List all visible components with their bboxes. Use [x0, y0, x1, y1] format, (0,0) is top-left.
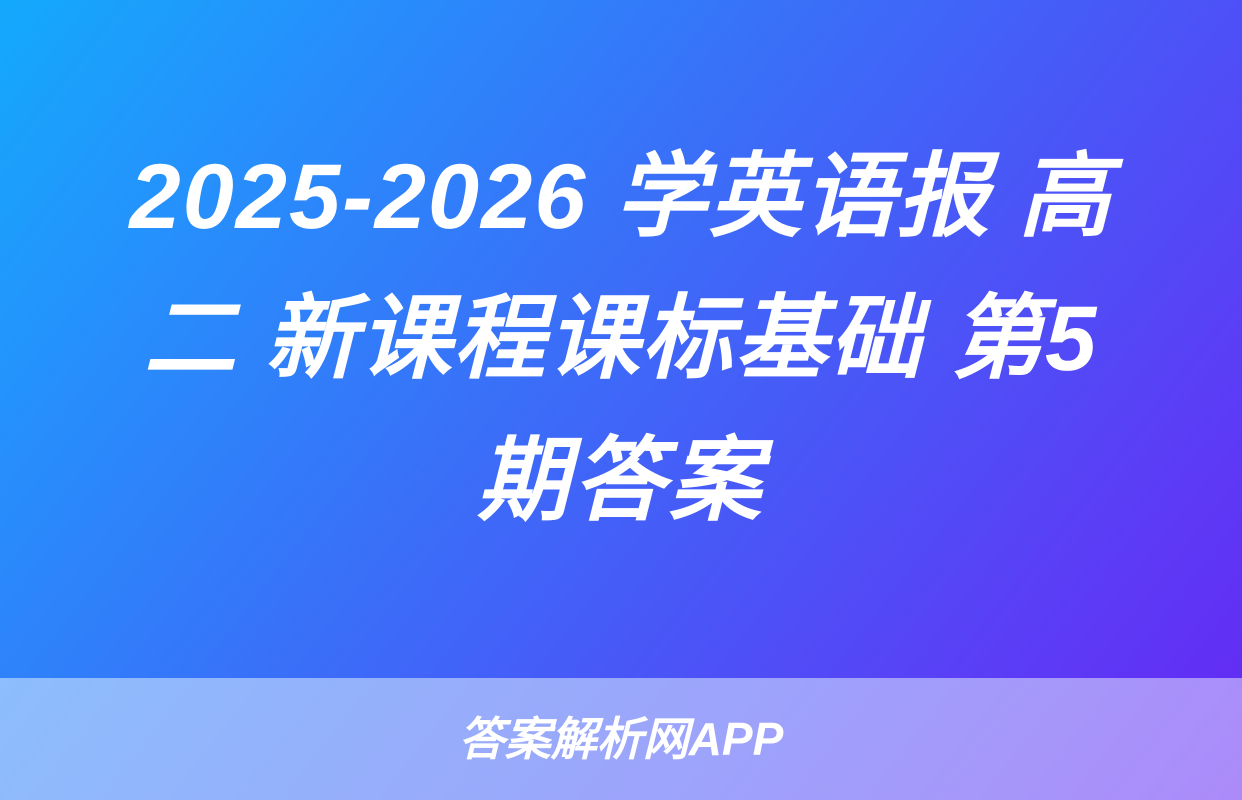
footer-watermark-band: 答案解析网APP [0, 678, 1242, 800]
page-title-line-1: 2025-2026 学英语报 高 [56, 126, 1186, 268]
page-title-line-2: 二 新课程课标基础 第5 [56, 268, 1186, 410]
answer-card: 2025-2026 学英语报 高 二 新课程课标基础 第5 期答案 答案解析网A… [0, 0, 1242, 800]
app-watermark-label: 答案解析网APP [459, 716, 784, 762]
title-block: 2025-2026 学英语报 高 二 新课程课标基础 第5 期答案 [0, 0, 1242, 678]
page-title-line-3: 期答案 [56, 410, 1186, 552]
